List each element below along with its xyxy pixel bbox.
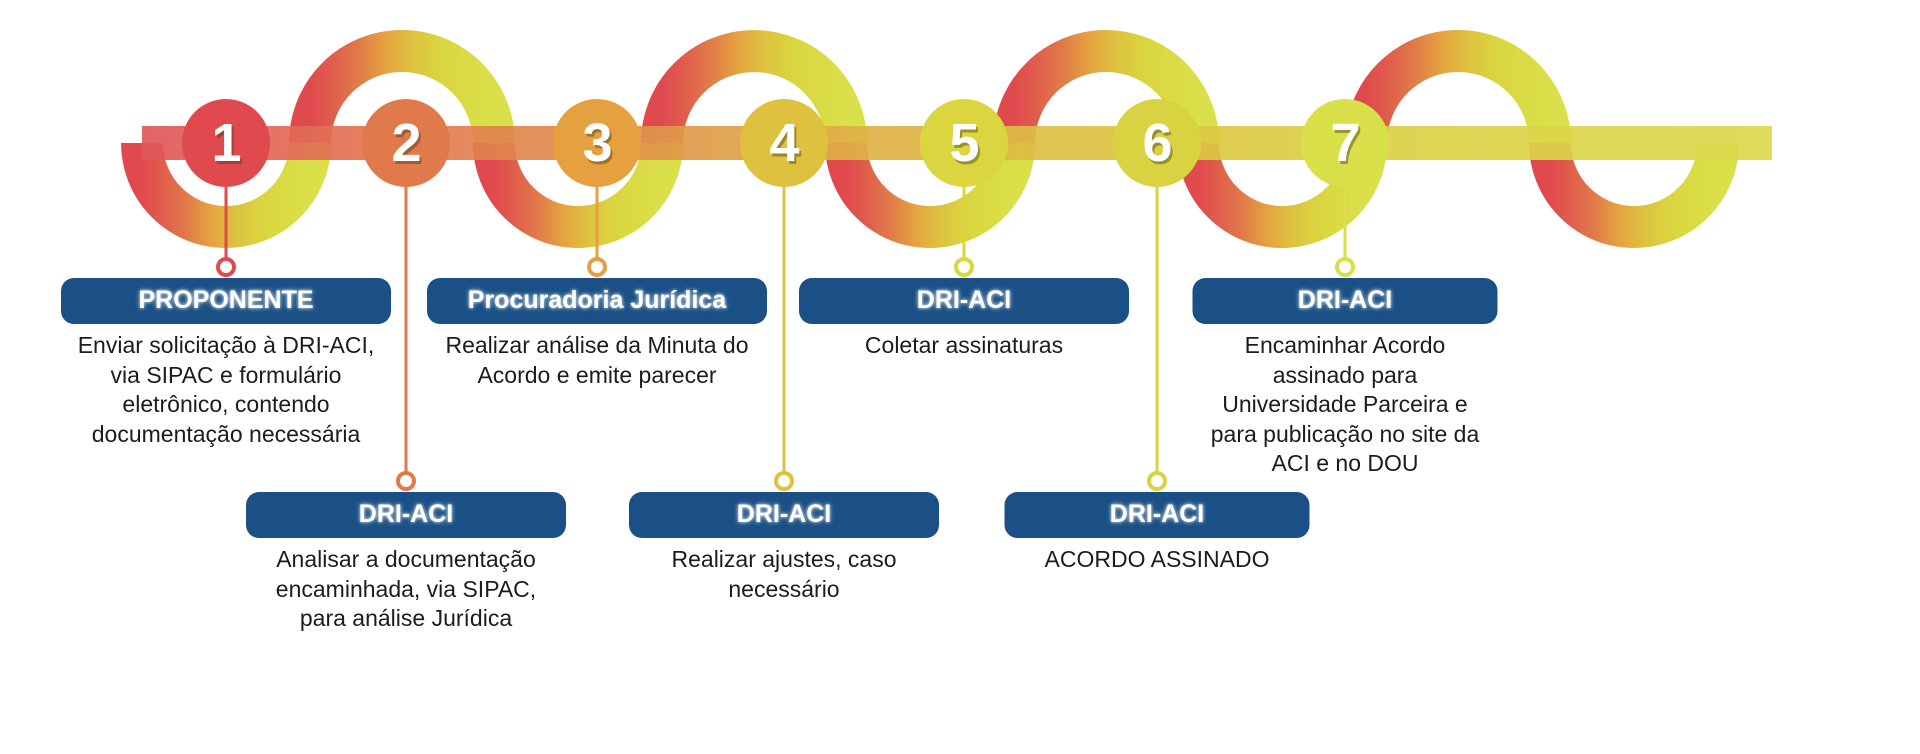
step-label-block-2: DRI-ACI Analisar a documentação encaminh… [246, 492, 566, 634]
step-node-1[interactable]: 1 [182, 99, 270, 187]
step-label-block-4: DRI-ACI Realizar ajustes, caso necessári… [629, 492, 939, 604]
step-description-4: Realizar ajustes, caso necessário [629, 545, 939, 604]
step-actor-pill-7[interactable]: DRI-ACI [1193, 278, 1498, 324]
step-number-7: 7 [1330, 116, 1359, 170]
step-description-1: Enviar solicitação à DRI-ACI, via SIPAC … [61, 331, 391, 449]
step-connector-ring-5 [954, 257, 974, 277]
step-stem-1 [225, 187, 228, 267]
step-number-4: 4 [769, 116, 798, 170]
step-label-block-5: DRI-ACI Coletar assinaturas [799, 278, 1129, 361]
step-label-block-3: Procuradoria Jurídica Realizar análise d… [427, 278, 767, 390]
step-label-block-7: DRI-ACI Encaminhar Acordo assinado para … [1193, 278, 1498, 478]
step-stem-3 [596, 187, 599, 267]
step-actor-pill-5[interactable]: DRI-ACI [799, 278, 1129, 324]
step-number-5: 5 [949, 116, 978, 170]
step-connector-ring-1 [216, 257, 236, 277]
step-node-6[interactable]: 6 [1113, 99, 1201, 187]
step-number-2: 2 [391, 116, 420, 170]
step-description-7: Encaminhar Acordo assinado para Universi… [1193, 331, 1498, 478]
step-description-2: Analisar a documentação encaminhada, via… [246, 545, 566, 633]
step-description-6: ACORDO ASSINADO [1005, 545, 1310, 574]
step-actor-pill-4[interactable]: DRI-ACI [629, 492, 939, 538]
step-node-2[interactable]: 2 [362, 99, 450, 187]
step-stem-6 [1156, 187, 1159, 481]
step-actor-pill-3[interactable]: Procuradoria Jurídica [427, 278, 767, 324]
step-connector-ring-2 [396, 471, 416, 491]
step-description-3: Realizar análise da Minuta do Acordo e e… [427, 331, 767, 390]
step-label-block-1: PROPONENTE Enviar solicitação à DRI-ACI,… [61, 278, 391, 449]
step-node-3[interactable]: 3 [553, 99, 641, 187]
step-number-3: 3 [582, 116, 611, 170]
step-label-block-6: DRI-ACI ACORDO ASSINADO [1005, 492, 1310, 575]
step-description-5: Coletar assinaturas [799, 331, 1129, 360]
step-connector-ring-3 [587, 257, 607, 277]
step-connector-ring-7 [1335, 257, 1355, 277]
step-stem-5 [963, 187, 966, 267]
step-actor-pill-6[interactable]: DRI-ACI [1005, 492, 1310, 538]
step-node-4[interactable]: 4 [740, 99, 828, 187]
step-stem-2 [405, 187, 408, 481]
step-number-6: 6 [1142, 116, 1171, 170]
step-actor-pill-2[interactable]: DRI-ACI [246, 492, 566, 538]
step-node-5[interactable]: 5 [920, 99, 1008, 187]
step-stem-7 [1344, 187, 1347, 267]
step-stem-4 [783, 187, 786, 481]
step-number-1: 1 [211, 116, 240, 170]
step-connector-ring-4 [774, 471, 794, 491]
step-connector-ring-6 [1147, 471, 1167, 491]
infographic-canvas: 1 PROPONENTE Enviar solicitação à DRI-AC… [0, 0, 1920, 754]
step-node-7[interactable]: 7 [1301, 99, 1389, 187]
step-actor-pill-1[interactable]: PROPONENTE [61, 278, 391, 324]
